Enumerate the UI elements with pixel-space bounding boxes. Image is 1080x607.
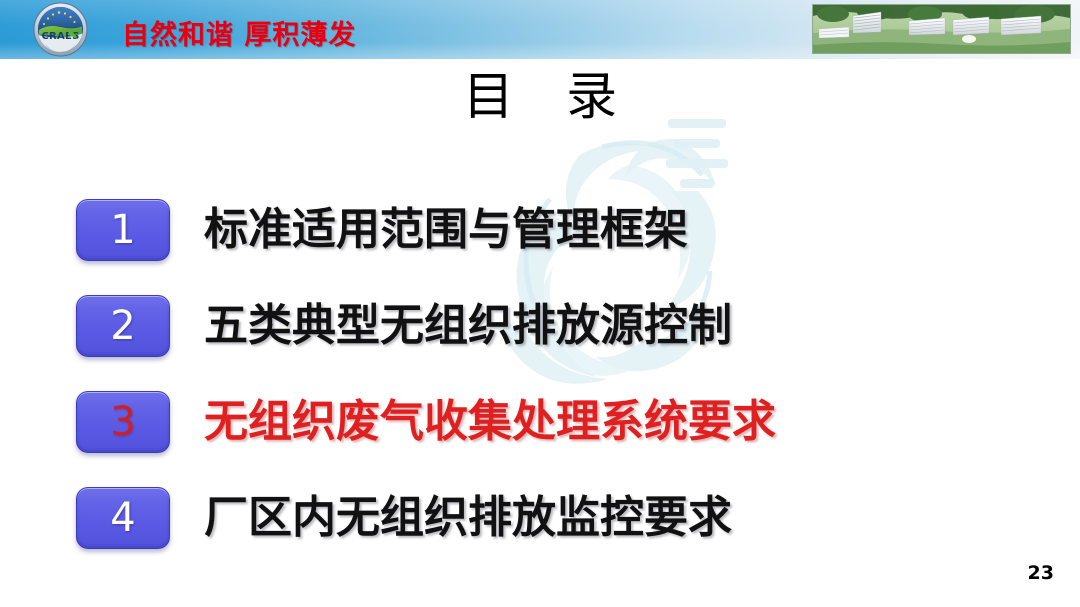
toc-number-badge-4[interactable]: 4 <box>76 487 170 549</box>
page-number: 23 <box>1028 562 1054 584</box>
toc-label-3[interactable]: 无组织废气收集处理系统要求 <box>204 400 776 444</box>
campus-photo <box>812 4 1071 54</box>
toc-number-2: 2 <box>110 306 135 346</box>
toc-item-1[interactable]: 1 标准适用范围与管理框架 <box>0 182 1080 278</box>
toc-item-3[interactable]: 3 无组织废气收集处理系统要求 <box>0 374 1080 470</box>
toc-number-4: 4 <box>110 498 135 538</box>
presentation-slide: CRAES 自然和谐 厚积薄发 <box>0 0 1080 607</box>
craes-logo-icon: CRAES <box>33 2 88 57</box>
header-slogan: 自然和谐 厚积薄发 <box>122 13 356 52</box>
toc-label-2[interactable]: 五类典型无组织排放源控制 <box>204 304 732 348</box>
toc-number-badge-2[interactable]: 2 <box>76 295 170 357</box>
toc-number-badge-1[interactable]: 1 <box>76 199 170 261</box>
toc-label-4[interactable]: 厂区内无组织排放监控要求 <box>204 496 732 540</box>
table-of-contents: 1 标准适用范围与管理框架 2 五类典型无组织排放源控制 3 无组织废气收集处理… <box>0 182 1080 566</box>
toc-number-badge-3[interactable]: 3 <box>76 391 170 453</box>
toc-label-1[interactable]: 标准适用范围与管理框架 <box>204 208 688 252</box>
toc-item-4[interactable]: 4 厂区内无组织排放监控要求 <box>0 470 1080 566</box>
toc-number-3: 3 <box>110 402 135 442</box>
page-title: 目 录 <box>0 72 1080 123</box>
toc-item-2[interactable]: 2 五类典型无组织排放源控制 <box>0 278 1080 374</box>
toc-number-1: 1 <box>110 210 135 250</box>
header-banner: CRAES 自然和谐 厚积薄发 <box>0 0 1080 59</box>
